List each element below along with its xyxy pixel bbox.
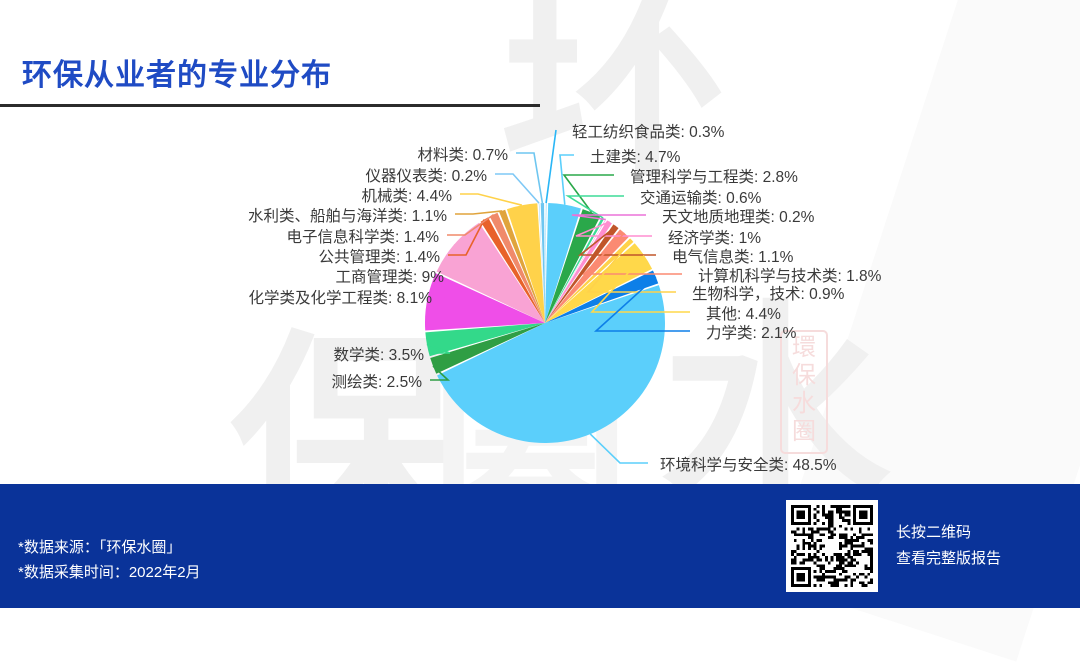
title-underline	[0, 104, 540, 107]
leader-line	[455, 211, 502, 214]
pie-label-21: 材料类: 0.7%	[418, 143, 508, 165]
pie-label-18: 水利类、船舶与海洋类: 1.1%	[248, 204, 447, 226]
pie-label-2: 管理科学与工程类: 2.8%	[630, 165, 798, 187]
pie-label-14: 化学类及化学工程类: 8.1%	[249, 286, 432, 308]
pie-label-4: 天文地质地理类: 0.2%	[662, 205, 814, 227]
leader-line	[590, 434, 648, 463]
footer-time-line: *数据采集时间：2022年2月	[18, 560, 201, 585]
qr-section[interactable]: 长按二维码 查看完整版报告	[786, 500, 1001, 592]
footer-source-text: *数据来源：「环保水圈」 *数据采集时间：2022年2月	[18, 535, 201, 585]
leader-line	[460, 194, 522, 205]
pie-label-1: 土建类: 4.7%	[590, 145, 680, 167]
pie-label-12: 测绘类: 2.5%	[332, 370, 422, 392]
leader-line	[495, 174, 539, 203]
qr-code[interactable]	[786, 500, 878, 592]
pie-label-0: 轻工纺织食品类: 0.3%	[572, 120, 724, 142]
qr-caption-line1: 长按二维码	[896, 520, 1001, 546]
qr-code-svg	[791, 505, 873, 587]
page-title: 环保从业者的专业分布	[22, 50, 332, 94]
pie-chart: 轻工纺织食品类: 0.3%土建类: 4.7%管理科学与工程类: 2.8%交通运输…	[0, 108, 1080, 480]
pie-label-11: 环境科学与安全类: 48.5%	[660, 453, 837, 475]
pie-label-8: 生物科学，技术: 0.9%	[692, 282, 844, 304]
qr-caption-line2: 查看完整版报告	[896, 546, 1001, 572]
pie-label-20: 仪器仪表类: 0.2%	[366, 164, 487, 186]
pie-label-13: 数学类: 3.5%	[334, 343, 424, 365]
leader-line	[516, 153, 542, 203]
leader-line	[546, 130, 556, 203]
pie-label-10: 力学类: 2.1%	[706, 321, 796, 343]
pie-label-15: 工商管理类: 9%	[335, 265, 444, 287]
footer-source-line: *数据来源：「环保水圈」	[18, 535, 201, 560]
pie-chart-svg	[0, 108, 1080, 480]
pie-label-19: 机械类: 4.4%	[362, 184, 452, 206]
pie-label-16: 公共管理类: 1.4%	[319, 245, 440, 267]
qr-caption: 长按二维码 查看完整版报告	[896, 520, 1001, 572]
pie-label-17: 电子信息科学类: 1.4%	[287, 225, 439, 247]
